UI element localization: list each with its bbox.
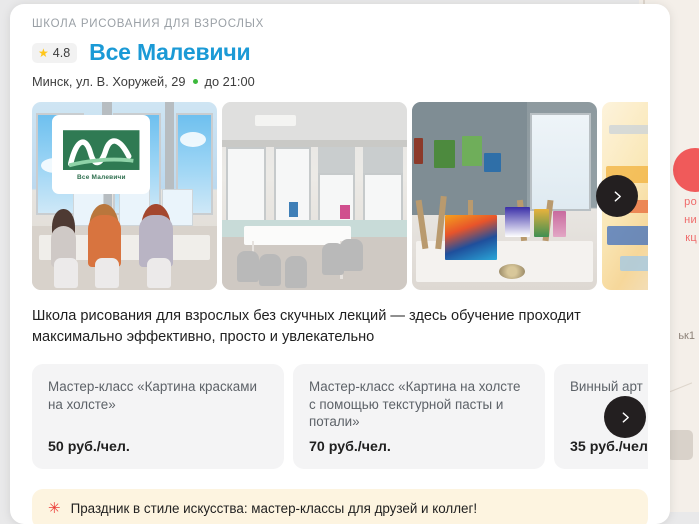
logo-mark-icon (63, 128, 139, 172)
title-row: ★ 4.8 Все Малевичи (32, 39, 648, 66)
chevron-right-icon (611, 190, 624, 203)
services-list: Мастер-класс «Картина красками на холсте… (32, 364, 648, 472)
working-hours: до 21:00 (205, 74, 255, 89)
service-price: 35 руб./чел. (570, 439, 648, 455)
photo-gallery: Все Малевичи (32, 102, 648, 290)
service-price: 70 руб./чел. (309, 439, 529, 455)
background-shape (667, 430, 693, 460)
gallery-photo-2[interactable] (222, 102, 407, 290)
status-dot-icon (193, 79, 198, 84)
services-next-button[interactable] (604, 396, 646, 438)
asterisk-icon: ✳ (48, 501, 61, 517)
background-blob (673, 148, 699, 192)
background-text: кц (685, 232, 697, 244)
address-row: Минск, ул. В. Хоружей, 29 до 21:00 (32, 74, 648, 89)
rating-badge[interactable]: ★ 4.8 (32, 43, 77, 63)
promo-text: Праздник в стиле искусства: мастер-класс… (71, 501, 477, 516)
service-name: Мастер-класс «Картина красками на холсте… (48, 378, 268, 413)
studio-logo: Все Малевичи (52, 115, 150, 194)
background-text: ни (684, 214, 697, 226)
logo-text: Все Малевичи (77, 174, 126, 181)
category-label: ШКОЛА РИСОВАНИЯ ДЛЯ ВЗРОСЛЫХ (32, 18, 648, 30)
service-card[interactable]: Мастер-класс «Картина красками на холсте… (32, 364, 284, 469)
promo-banner[interactable]: ✳ Праздник в стиле искусства: мастер-кла… (32, 489, 648, 524)
rating-value: 4.8 (53, 46, 70, 60)
service-name: Винный арт (570, 378, 648, 396)
description-text: Школа рисования для взрослых без скучных… (32, 306, 632, 348)
address-text[interactable]: Минск, ул. В. Хоружей, 29 (32, 74, 186, 89)
background-text: ро (684, 196, 697, 208)
service-price: 50 руб./чел. (48, 439, 268, 455)
gallery-photo-1[interactable]: Все Малевичи (32, 102, 217, 290)
service-name: Мастер-класс «Картина на холсте с помощь… (309, 378, 529, 431)
organization-card: ШКОЛА РИСОВАНИЯ ДЛЯ ВЗРОСЛЫХ ★ 4.8 Все М… (10, 4, 670, 524)
gallery-next-button[interactable] (596, 175, 638, 217)
background-text: ьк1 (678, 330, 695, 342)
page-title: Все Малевичи (89, 39, 250, 66)
chevron-right-icon (619, 411, 632, 424)
service-card[interactable]: Мастер-класс «Картина на холсте с помощь… (293, 364, 545, 469)
gallery-photo-3[interactable] (412, 102, 597, 290)
star-icon: ★ (38, 47, 49, 59)
